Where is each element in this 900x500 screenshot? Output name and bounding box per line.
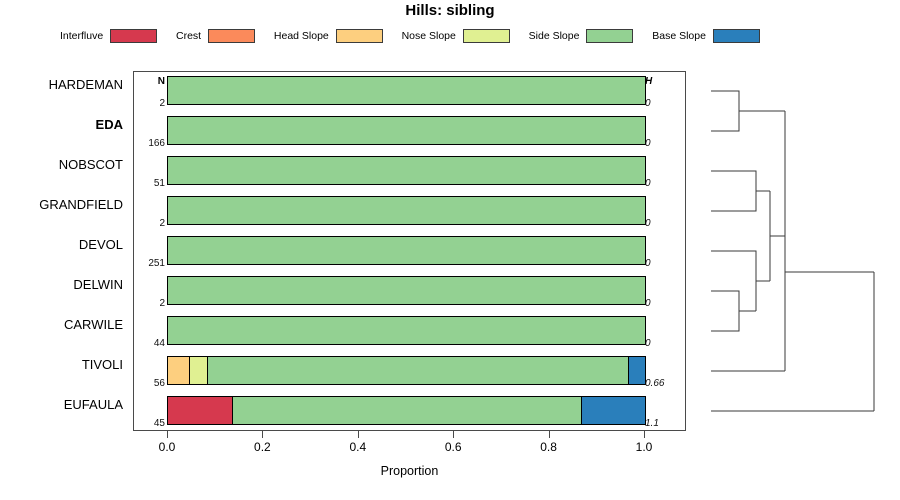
- row-n-value: 251: [134, 258, 165, 269]
- bar-segment-interfluve[interactable]: [168, 397, 232, 424]
- chart-row: 560.66: [134, 352, 685, 392]
- x-axis-tick: [549, 431, 550, 438]
- dendro-link-devol-cd: [711, 251, 756, 311]
- bar-segment-base-slope[interactable]: [581, 397, 645, 424]
- x-axis-tick-label: 0.0: [159, 440, 176, 454]
- legend-swatch: [208, 29, 255, 43]
- stacked-bar[interactable]: [167, 356, 646, 385]
- row-n-value: 56: [134, 378, 165, 389]
- legend-item-label: Side Slope: [529, 30, 580, 42]
- row-n-value: 166: [134, 138, 165, 149]
- legend-item-label: Base Slope: [652, 30, 706, 42]
- x-axis: 0.00.20.40.60.81.0: [133, 431, 686, 461]
- plot-panel: NH20166051020251020440560.66451.1: [133, 71, 686, 431]
- chart-row: 2510: [134, 232, 685, 272]
- y-axis-label-hardeman: HARDEMAN: [49, 78, 123, 92]
- dendrogram-svg: [690, 71, 900, 431]
- bar-segment-head-slope[interactable]: [168, 357, 189, 384]
- x-axis-tick: [453, 431, 454, 438]
- legend-swatch: [713, 29, 760, 43]
- row-h-value: 0: [645, 338, 683, 349]
- x-axis-tick-label: 0.8: [540, 440, 557, 454]
- row-h-value: 0: [645, 138, 683, 149]
- row-h-value: 1.1: [645, 418, 683, 429]
- y-axis-label-eufaula: EUFAULA: [64, 398, 123, 412]
- y-axis-label-tivoli: TIVOLI: [82, 358, 123, 372]
- x-axis-tick: [644, 431, 645, 438]
- chart-row: 451.1: [134, 392, 685, 432]
- row-h-value: 0: [645, 218, 683, 229]
- bar-segment-side-slope[interactable]: [168, 117, 645, 144]
- bar-segment-side-slope[interactable]: [168, 77, 645, 104]
- legend-item-nose-slope: Nose Slope: [402, 29, 510, 43]
- chart-row: 20: [134, 72, 685, 112]
- bar-segment-side-slope[interactable]: [168, 157, 645, 184]
- legend-swatch: [586, 29, 633, 43]
- bar-segment-side-slope[interactable]: [168, 197, 645, 224]
- legend-item-interfluve: Interfluve: [60, 29, 157, 43]
- y-axis-label-grandfield: GRANDFIELD: [39, 198, 123, 212]
- legend-item-label: Head Slope: [274, 30, 329, 42]
- x-axis-tick: [358, 431, 359, 438]
- chart-row: 20: [134, 272, 685, 312]
- page-title: Hills: sibling: [0, 2, 900, 19]
- bar-segment-nose-slope[interactable]: [189, 357, 206, 384]
- row-n-value: 2: [134, 98, 165, 109]
- bar-segment-side-slope[interactable]: [168, 237, 645, 264]
- row-n-value: 45: [134, 418, 165, 429]
- stacked-bar[interactable]: [167, 276, 646, 305]
- y-axis-label-eda: EDA: [96, 118, 123, 132]
- bar-segment-base-slope[interactable]: [628, 357, 645, 384]
- y-axis-label-devol: DEVOL: [79, 238, 123, 252]
- x-axis-tick-label: 0.4: [349, 440, 366, 454]
- bar-segment-side-slope[interactable]: [168, 317, 645, 344]
- legend-item-side-slope: Side Slope: [529, 29, 634, 43]
- x-axis-title: Proportion: [133, 464, 686, 478]
- legend: InterfluveCrestHead SlopeNose SlopeSide …: [60, 27, 760, 45]
- row-h-value: 0: [645, 258, 683, 269]
- stacked-bar[interactable]: [167, 76, 646, 105]
- legend-item-label: Interfluve: [60, 30, 103, 42]
- bar-segment-side-slope[interactable]: [232, 397, 580, 424]
- legend-item-base-slope: Base Slope: [652, 29, 760, 43]
- stacked-bar[interactable]: [167, 116, 646, 145]
- row-n-value: 2: [134, 298, 165, 309]
- legend-swatch: [336, 29, 383, 43]
- dendro-link-nobscot-grandfield: [711, 171, 756, 211]
- x-axis-tick-label: 0.2: [254, 440, 271, 454]
- y-axis-label-nobscot: NOBSCOT: [59, 158, 123, 172]
- row-n-value: 44: [134, 338, 165, 349]
- stacked-bar[interactable]: [167, 156, 646, 185]
- bar-segment-side-slope[interactable]: [207, 357, 629, 384]
- legend-item-label: Crest: [176, 30, 201, 42]
- chart-row: 1660: [134, 112, 685, 152]
- legend-item-crest: Crest: [176, 29, 255, 43]
- dendro-link-hardeman-eda: [711, 91, 739, 131]
- dendro-link-delwin-carwile: [711, 291, 739, 331]
- y-axis-labels: HARDEMANEDANOBSCOTGRANDFIELDDEVOLDELWINC…: [0, 71, 128, 431]
- legend-item-label: Nose Slope: [402, 30, 456, 42]
- chart-row: 20: [134, 192, 685, 232]
- chart-row: 440: [134, 312, 685, 352]
- x-axis-tick-label: 0.6: [445, 440, 462, 454]
- x-axis-tick: [167, 431, 168, 438]
- row-h-value: 0: [645, 298, 683, 309]
- row-h-value: 0: [645, 178, 683, 189]
- x-axis-tick: [262, 431, 263, 438]
- dendrogram: [690, 71, 900, 431]
- stacked-bar[interactable]: [167, 316, 646, 345]
- legend-swatch: [463, 29, 510, 43]
- stacked-bar[interactable]: [167, 196, 646, 225]
- x-axis-tick-label: 1.0: [636, 440, 653, 454]
- row-h-value: 0: [645, 98, 683, 109]
- row-n-value: 51: [134, 178, 165, 189]
- legend-swatch: [110, 29, 157, 43]
- stacked-bar[interactable]: [167, 236, 646, 265]
- bar-segment-side-slope[interactable]: [168, 277, 645, 304]
- stacked-bar[interactable]: [167, 396, 646, 425]
- y-axis-label-delwin: DELWIN: [73, 278, 123, 292]
- chart-row: 510: [134, 152, 685, 192]
- legend-item-head-slope: Head Slope: [274, 29, 383, 43]
- y-axis-label-carwile: CARWILE: [64, 318, 123, 332]
- row-h-value: 0.66: [645, 378, 683, 389]
- row-n-value: 2: [134, 218, 165, 229]
